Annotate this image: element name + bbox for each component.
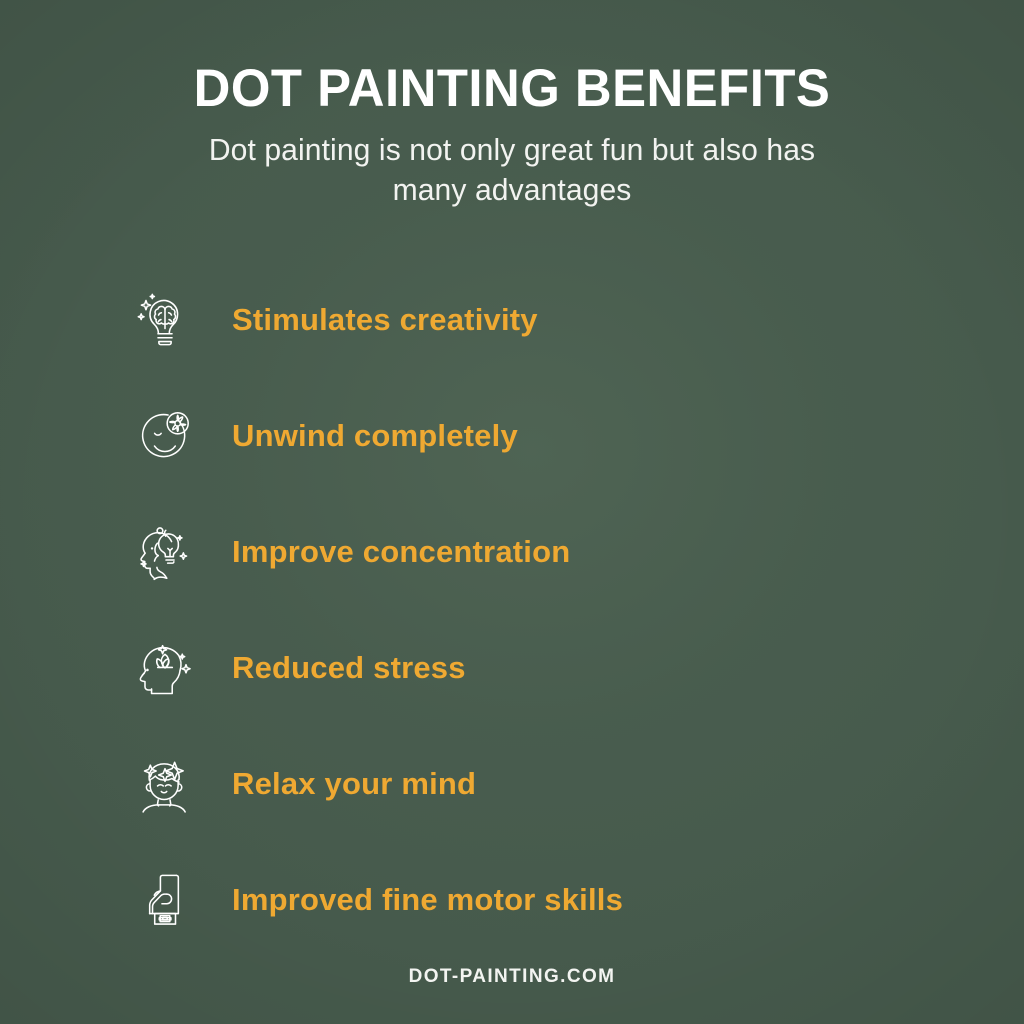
benefit-label: Reduced stress [232,650,466,686]
relaxed-face-stars-icon [128,747,202,821]
list-item: Improve concentration [128,504,928,600]
infographic-poster: DOT PAINTING BENEFITS Dot painting is no… [0,0,1024,1024]
footer-website: DOT-PAINTING.COM [0,966,1024,988]
brain-lightbulb-sparkle-icon [128,283,202,357]
page-subtitle: Dot painting is not only great fun but a… [143,130,880,211]
poster-header: DOT PAINTING BENEFITS Dot painting is no… [0,0,1024,211]
page-title: DOT PAINTING BENEFITS [20,62,1003,116]
list-item: Reduced stress [128,620,928,716]
list-item: Relax your mind [128,736,928,832]
smiling-face-flower-icon [128,399,202,473]
subtitle-line-1: Dot painting is not only great fun but a… [143,130,880,170]
benefit-label: Improve concentration [232,534,570,570]
head-profile-lotus-sparkle-icon [128,631,202,705]
head-profile-lightbulb-icon [128,515,202,589]
hand-holding-dotting-tool-icon [128,863,202,937]
list-item: Improved fine motor skills [128,852,928,948]
subtitle-line-2: many advantages [143,170,880,210]
benefits-list: Stimulates creativity Unw [128,272,928,948]
benefit-label: Stimulates creativity [232,302,538,338]
list-item: Stimulates creativity [128,272,928,368]
benefit-label: Improved fine motor skills [232,882,623,918]
benefit-label: Unwind completely [232,418,518,454]
benefit-label: Relax your mind [232,766,476,802]
list-item: Unwind completely [128,388,928,484]
